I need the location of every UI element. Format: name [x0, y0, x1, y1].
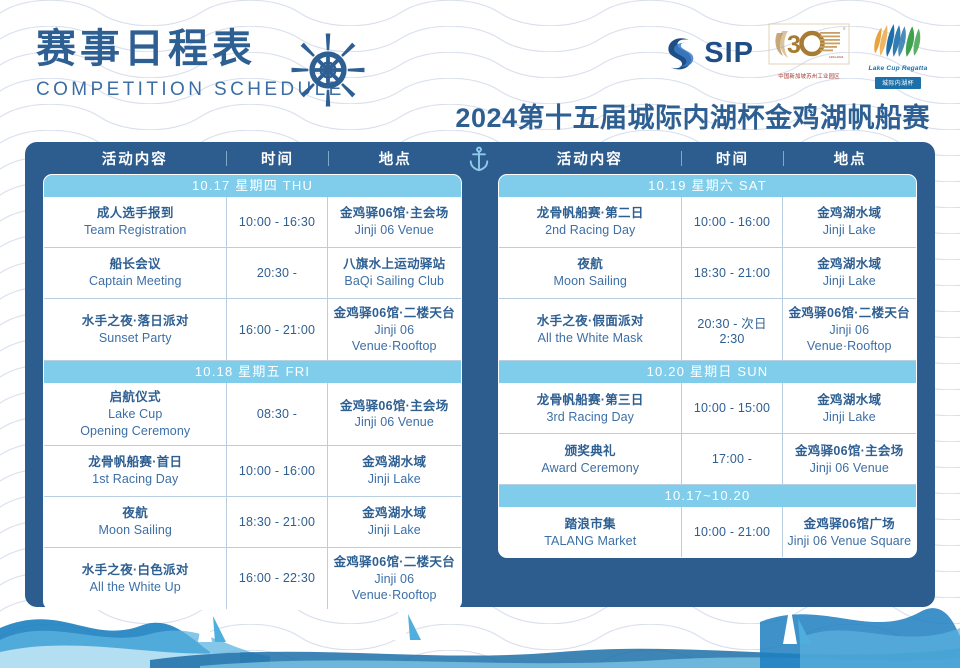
cell-place: 金鸡驿06馆·二楼天台Jinji 06 Venue·Rooftop	[328, 548, 461, 609]
lake-cup-regatta-logo: Lake Cup Regatta 城际内湖杯	[864, 23, 932, 83]
place-cn: 金鸡湖水域	[362, 505, 426, 522]
table-row: 水手之夜·落日派对Sunset Party16:00 - 21:00金鸡驿06馆…	[44, 299, 461, 361]
place-en: Jinji Lake	[823, 409, 876, 425]
regatta-sail-icon	[864, 23, 932, 59]
cell-place: 金鸡驿06馆·主会场Jinji 06 Venue	[783, 434, 916, 484]
anniversary-30-icon: 3 1994-2024 ®	[768, 23, 850, 65]
activity-en: 1st Racing Day	[92, 471, 178, 487]
cell-place: 金鸡驿06馆广场Jinji 06 Venue Square	[783, 507, 916, 557]
table-body-right: 10.19 星期六 SAT龙骨帆船赛·第二日2nd Racing Day10:0…	[498, 174, 917, 558]
cell-place: 金鸡驿06馆·二楼天台Jinji 06 Venue·Rooftop	[783, 299, 916, 360]
header-time-right: 时间	[682, 148, 782, 169]
cell-place: 金鸡湖水域Jinji Lake	[783, 197, 916, 247]
anniversary-30-logo: 3 1994-2024 ® 中国新加坡苏州工业园区	[768, 23, 850, 83]
cell-activity: 水手之夜·白色派对All the White Up	[44, 548, 227, 609]
cell-activity: 踏浪市集TALANG Market	[499, 507, 682, 557]
column-header-left: 活动内容 时间 地点	[43, 142, 462, 174]
cell-activity: 龙骨帆船赛·首日1st Racing Day	[44, 446, 227, 496]
poster-header: 赛事日程表 COMPETITION SCHEDULE	[0, 0, 960, 140]
table-row: 踏浪市集TALANG Market10:00 - 21:00金鸡驿06馆广场Ji…	[499, 507, 916, 557]
time-value: 17:00 -	[712, 452, 752, 466]
table-row: 龙骨帆船赛·首日1st Racing Day10:00 - 16:00金鸡湖水域…	[44, 446, 461, 497]
activity-cn: 水手之夜·假面派对	[537, 313, 644, 330]
cell-place: 金鸡湖水域Jinji Lake	[783, 383, 916, 433]
cell-place: 金鸡湖水域Jinji Lake	[328, 497, 461, 547]
place-cn: 金鸡驿06馆·主会场	[795, 443, 904, 460]
cell-time: 20:30 -	[227, 248, 327, 298]
time-value: 10:00 - 16:00	[694, 215, 770, 229]
svg-text:3: 3	[787, 31, 801, 59]
activity-en: 3rd Racing Day	[546, 409, 634, 425]
table-row: 成人选手报到Team Registration10:00 - 16:30金鸡驿0…	[44, 197, 461, 248]
schedule-column-right: 活动内容 时间 地点 10.19 星期六 SAT龙骨帆船赛·第二日2nd Rac…	[480, 142, 935, 607]
place-en: BaQi Sailing Club	[344, 273, 444, 289]
time-value: 20:30 -	[257, 266, 297, 280]
activity-en: All the White Mask	[538, 330, 643, 346]
place-en: Jinji 06 Venue	[355, 222, 434, 238]
cell-activity: 夜航Moon Sailing	[44, 497, 227, 547]
cell-activity: 启航仪式Lake CupOpening Ceremony	[44, 383, 227, 444]
date-band: 10.20 星期日 SUN	[499, 361, 916, 383]
table-row: 龙骨帆船赛·第三日3rd Racing Day10:00 - 15:00金鸡湖水…	[499, 383, 916, 434]
cell-time: 10:00 - 16:00	[227, 446, 327, 496]
place-cn: 金鸡驿06馆广场	[804, 516, 895, 533]
header-place-left: 地点	[329, 148, 462, 169]
activity-cn: 龙骨帆船赛·第二日	[537, 205, 644, 222]
cell-activity: 夜航Moon Sailing	[499, 248, 682, 298]
activity-cn: 龙骨帆船赛·首日	[88, 454, 182, 471]
cell-time: 08:30 -	[227, 383, 327, 444]
cell-time: 18:30 - 21:00	[682, 248, 782, 298]
activity-en: Team Registration	[84, 222, 186, 238]
place-en: Jinji 06 Venue Square	[787, 533, 911, 549]
activity-cn: 踏浪市集	[565, 516, 616, 533]
cell-activity: 龙骨帆船赛·第三日3rd Racing Day	[499, 383, 682, 433]
time-value: 16:00 - 22:30	[239, 571, 315, 585]
time-value: 10:00 - 21:00	[694, 525, 770, 539]
table-row: 龙骨帆船赛·第二日2nd Racing Day10:00 - 16:00金鸡湖水…	[499, 197, 916, 248]
sip-logo: SIP	[665, 23, 754, 83]
activity-en: Lake CupOpening Ceremony	[80, 406, 190, 439]
table-row: 夜航Moon Sailing18:30 - 21:00金鸡湖水域Jinji La…	[44, 497, 461, 548]
place-cn: 金鸡驿06馆·二楼天台	[789, 305, 910, 322]
activity-en: All the White Up	[90, 579, 181, 595]
activity-cn: 船长会议	[110, 256, 161, 273]
cell-activity: 水手之夜·假面派对All the White Mask	[499, 299, 682, 360]
date-band: 10.18 星期五 FRI	[44, 361, 461, 383]
header-time-left: 时间	[227, 148, 327, 169]
place-en: Jinji Lake	[368, 471, 421, 487]
cell-place: 金鸡驿06馆·二楼天台Jinji 06 Venue·Rooftop	[328, 299, 461, 360]
activity-en: Sunset Party	[99, 330, 172, 346]
table-row: 船长会议Captain Meeting20:30 -八旗水上运动驿站BaQi S…	[44, 248, 461, 299]
svg-text:®: ®	[843, 27, 846, 31]
cell-time: 16:00 - 22:30	[227, 548, 327, 609]
table-row: 水手之夜·假面派对All the White Mask20:30 - 次日2:3…	[499, 299, 916, 361]
table-row: 颁奖典礼Award Ceremony17:00 -金鸡驿06馆·主会场Jinji…	[499, 434, 916, 485]
place-cn: 金鸡湖水域	[817, 392, 881, 409]
cell-place: 金鸡驿06馆·主会场Jinji 06 Venue	[328, 383, 461, 444]
cell-time: 18:30 - 21:00	[227, 497, 327, 547]
lake-cup-chinese: 城际内湖杯	[875, 77, 921, 89]
schedule-column-left: 活动内容 时间 地点 10.17 星期四 THU成人选手报到Team Regis…	[25, 142, 480, 607]
cell-place: 金鸡湖水域Jinji Lake	[328, 446, 461, 496]
anniversary-subtitle: 中国新加坡苏州工业园区	[768, 72, 850, 80]
time-value: 10:00 - 16:30	[239, 215, 315, 229]
activity-en: Captain Meeting	[89, 273, 182, 289]
activity-cn: 启航仪式	[110, 389, 161, 406]
date-band: 10.17~10.20	[499, 485, 916, 507]
activity-en: Award Ceremony	[541, 460, 639, 476]
activity-en: Moon Sailing	[99, 522, 172, 538]
lake-cup-english: Lake Cup Regatta	[864, 65, 932, 72]
place-cn: 金鸡驿06馆·主会场	[340, 205, 449, 222]
cell-time: 10:00 - 16:00	[682, 197, 782, 247]
table-body-left: 10.17 星期四 THU成人选手报到Team Registration10:0…	[43, 174, 462, 610]
activity-cn: 水手之夜·落日派对	[82, 313, 189, 330]
activity-cn: 颁奖典礼	[565, 443, 616, 460]
column-header-right: 活动内容 时间 地点	[498, 142, 917, 174]
sponsor-logos: SIP 3	[665, 22, 932, 84]
cell-time: 20:30 - 次日2:30	[682, 299, 782, 360]
header-activity-right: 活动内容	[498, 148, 681, 169]
svg-text:1994-2024: 1994-2024	[829, 55, 844, 59]
cell-place: 八旗水上运动驿站BaQi Sailing Club	[328, 248, 461, 298]
table-row: 水手之夜·白色派对All the White Up16:00 - 22:30金鸡…	[44, 548, 461, 609]
time-value: 10:00 - 15:00	[694, 401, 770, 415]
cell-activity: 成人选手报到Team Registration	[44, 197, 227, 247]
activity-cn: 夜航	[577, 256, 603, 273]
time-value: 08:30 -	[257, 407, 297, 421]
ships-wheel-icon	[290, 32, 366, 108]
cell-time: 10:00 - 21:00	[682, 507, 782, 557]
schedule-frame: 活动内容 时间 地点 10.17 星期四 THU成人选手报到Team Regis…	[25, 142, 935, 607]
cell-place: 金鸡驿06馆·主会场Jinji 06 Venue	[328, 197, 461, 247]
cell-place: 金鸡湖水域Jinji Lake	[783, 248, 916, 298]
place-en: Jinji Lake	[368, 522, 421, 538]
cell-time: 10:00 - 15:00	[682, 383, 782, 433]
time-value: 18:30 - 21:00	[239, 515, 315, 529]
cell-activity: 颁奖典礼Award Ceremony	[499, 434, 682, 484]
place-en: Jinji Lake	[823, 273, 876, 289]
schedule-tables: 活动内容 时间 地点 10.17 星期四 THU成人选手报到Team Regis…	[25, 142, 935, 607]
activity-cn: 水手之夜·白色派对	[82, 562, 189, 579]
place-cn: 金鸡驿06馆·二楼天台	[334, 554, 455, 571]
place-en: Jinji Lake	[823, 222, 876, 238]
activity-cn: 成人选手报到	[97, 205, 174, 222]
place-cn: 金鸡驿06馆·二楼天台	[334, 305, 455, 322]
date-band: 10.17 星期四 THU	[44, 175, 461, 197]
cell-activity: 水手之夜·落日派对Sunset Party	[44, 299, 227, 360]
place-cn: 八旗水上运动驿站	[343, 256, 445, 273]
activity-en: 2nd Racing Day	[545, 222, 635, 238]
table-row: 启航仪式Lake CupOpening Ceremony08:30 -金鸡驿06…	[44, 383, 461, 445]
time-value: 16:00 - 21:00	[239, 323, 315, 337]
schedule-poster: 赛事日程表 COMPETITION SCHEDULE	[0, 0, 960, 668]
place-en: Jinji 06 Venue·Rooftop	[332, 571, 457, 604]
activity-cn: 龙骨帆船赛·第三日	[537, 392, 644, 409]
place-en: Jinji 06 Venue·Rooftop	[332, 322, 457, 355]
activity-en: TALANG Market	[544, 533, 636, 549]
time-value: 10:00 - 16:00	[239, 464, 315, 478]
table-row: 夜航Moon Sailing18:30 - 21:00金鸡湖水域Jinji La…	[499, 248, 916, 299]
place-cn: 金鸡驿06馆·主会场	[340, 398, 449, 415]
activity-en: Moon Sailing	[554, 273, 627, 289]
place-cn: 金鸡湖水域	[362, 454, 426, 471]
time-value: 20:30 - 次日2:30	[686, 313, 777, 346]
place-en: Jinji 06 Venue·Rooftop	[787, 322, 912, 355]
date-band: 10.19 星期六 SAT	[499, 175, 916, 197]
cell-activity: 龙骨帆船赛·第二日2nd Racing Day	[499, 197, 682, 247]
header-place-right: 地点	[784, 148, 917, 169]
sip-logo-text: SIP	[704, 37, 754, 70]
anchor-icon	[466, 146, 492, 172]
sip-swirl-icon	[665, 34, 699, 72]
cell-time: 17:00 -	[682, 434, 782, 484]
place-en: Jinji 06 Venue	[355, 414, 434, 430]
cell-time: 10:00 - 16:30	[227, 197, 327, 247]
place-en: Jinji 06 Venue	[810, 460, 889, 476]
cell-time: 16:00 - 21:00	[227, 299, 327, 360]
activity-cn: 夜航	[122, 505, 148, 522]
place-cn: 金鸡湖水域	[817, 256, 881, 273]
place-cn: 金鸡湖水域	[817, 205, 881, 222]
cell-activity: 船长会议Captain Meeting	[44, 248, 227, 298]
event-title: 2024第十五届城际内湖杯金鸡湖帆船赛	[455, 96, 930, 135]
header-activity-left: 活动内容	[43, 148, 226, 169]
time-value: 18:30 - 21:00	[694, 266, 770, 280]
